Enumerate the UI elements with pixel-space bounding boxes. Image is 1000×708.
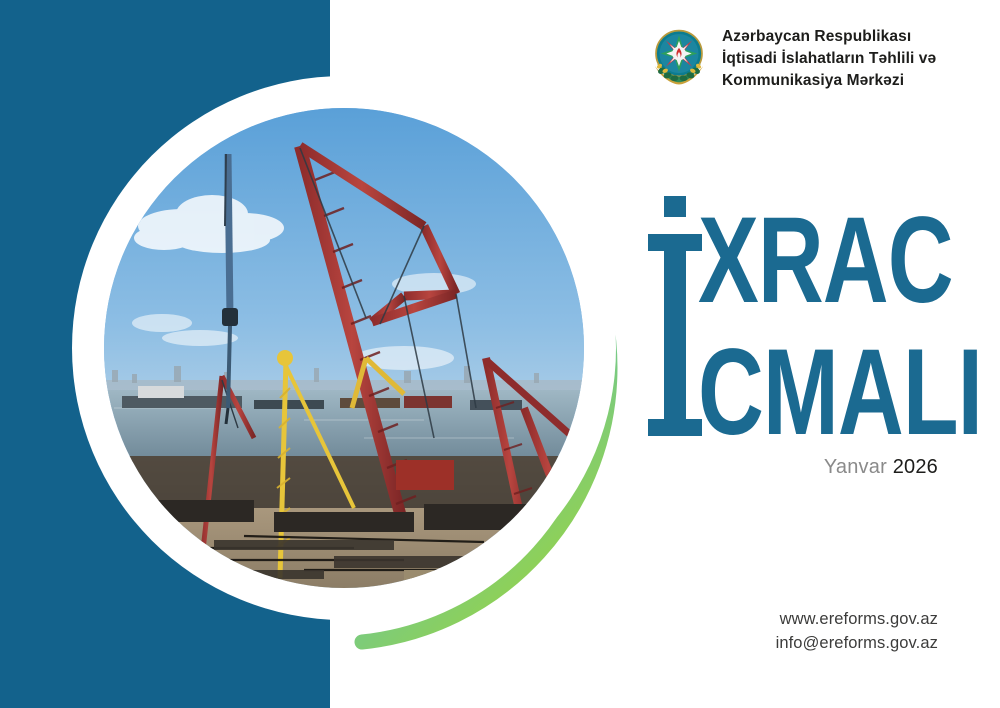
organisation-header: Azərbaycan Respublikası İqtisadi İslahat… (650, 26, 936, 92)
title-line-2: CMALI (698, 334, 982, 452)
title-shared-letter-i (644, 196, 706, 436)
azerbaijan-state-emblem-icon (650, 26, 708, 88)
report-cover: Azərbaycan Respublikası İqtisadi İslahat… (0, 0, 1000, 708)
issue-date: Yanvar 2026 (824, 456, 938, 479)
contact-block: www.ereforms.gov.az info@ereforms.gov.az (776, 607, 938, 656)
title-lines: XRAC CMALI (698, 196, 997, 426)
cover-title: XRAC CMALI (644, 196, 984, 446)
email-link[interactable]: info@ereforms.gov.az (776, 631, 938, 655)
website-link[interactable]: www.ereforms.gov.az (776, 607, 938, 631)
title-line-1: XRAC (698, 202, 982, 320)
issue-year: 2026 (893, 456, 938, 478)
issue-month: Yanvar (824, 456, 887, 478)
cover-image (104, 108, 584, 588)
blue-panel-top-band (0, 0, 330, 76)
organisation-name: Azərbaycan Respublikası İqtisadi İslahat… (722, 26, 936, 92)
